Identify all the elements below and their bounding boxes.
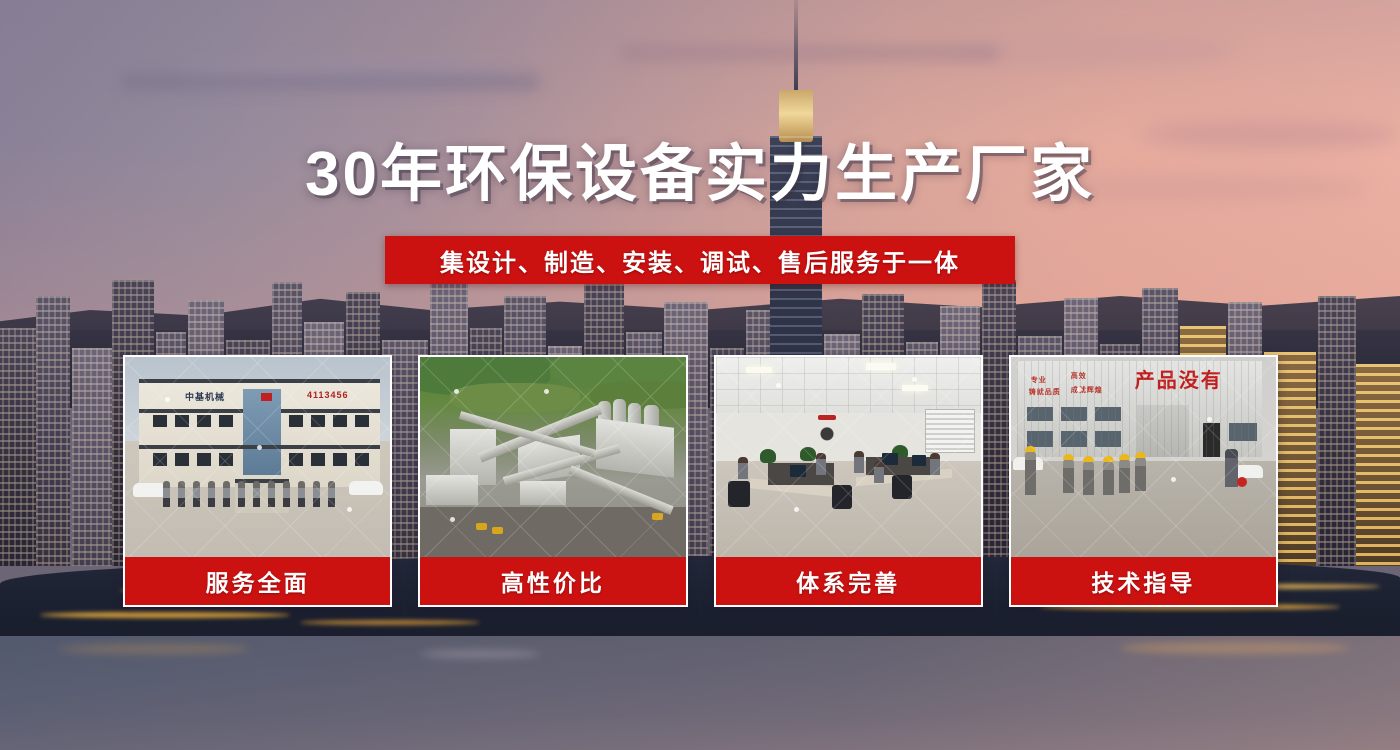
- office-chair: [832, 485, 852, 509]
- office-chair: [892, 475, 912, 499]
- monitor: [912, 455, 926, 466]
- office-worker: [816, 453, 826, 475]
- factory-side-door: [1203, 423, 1220, 457]
- office-building: 中基机械 4113456: [139, 379, 380, 487]
- river: [0, 636, 1400, 750]
- worker: [1083, 461, 1094, 495]
- tower-spire: [794, 0, 798, 93]
- flag: [261, 393, 272, 401]
- hard-hat: [1135, 452, 1146, 458]
- ceiling-light: [902, 385, 928, 391]
- worker: [1025, 451, 1036, 495]
- cloud: [620, 46, 1000, 60]
- office-worker: [930, 453, 940, 475]
- ceiling: [716, 357, 981, 413]
- feature-card-list: 中基机械 4113456: [123, 355, 1278, 607]
- phone-number-signage: 4113456: [307, 390, 349, 400]
- company-signage: 中基机械: [185, 390, 225, 403]
- supervisor: [1225, 449, 1238, 487]
- card-caption-bar: 服务全面: [125, 557, 390, 605]
- worker: [1063, 459, 1074, 493]
- hard-hat: [1103, 456, 1114, 462]
- street-light: [300, 620, 480, 625]
- card-caption-text: 高性价比: [501, 564, 605, 598]
- hero-banner: 30年环保设备实力生产厂家 集设计、制造、安装、调试、售后服务于一体: [0, 0, 1400, 750]
- card-photo-office-interior: [716, 357, 981, 557]
- ceiling-light: [746, 367, 772, 373]
- feature-card[interactable]: 体系完善: [714, 355, 983, 607]
- parked-car: [133, 483, 167, 497]
- plant-building: [426, 475, 478, 505]
- hard-hat: [1025, 446, 1036, 452]
- hard-hat: [1063, 454, 1074, 460]
- card-photo-office-building: 中基机械 4113456: [125, 357, 390, 557]
- card-caption-text: 体系完善: [796, 564, 900, 598]
- potted-plant: [800, 447, 816, 461]
- street-light: [40, 612, 290, 618]
- building-glass-facade: [243, 389, 281, 475]
- office-worker: [738, 457, 748, 479]
- illuminated-building: [1356, 364, 1400, 566]
- cloud: [120, 74, 540, 90]
- feature-card[interactable]: 高性价比: [418, 355, 687, 607]
- factory-building: 产品没有 专业 高效 铸就品质 成就辉煌: [1017, 361, 1262, 457]
- office-chair: [728, 481, 750, 507]
- card-photo-plant-aerial: [420, 357, 685, 557]
- office-worker: [854, 451, 864, 473]
- worker: [1135, 457, 1146, 491]
- excavator: [492, 527, 503, 534]
- tower-crown-light: [779, 90, 813, 142]
- excavator: [476, 523, 487, 530]
- red-helmet: [1237, 477, 1247, 487]
- card-caption-text: 服务全面: [206, 564, 310, 598]
- hard-hat: [1083, 456, 1094, 462]
- hero-subtitle-bar: 集设计、制造、安装、调试、售后服务于一体: [385, 236, 1015, 284]
- plant-building: [520, 481, 566, 505]
- excavator: [652, 513, 663, 520]
- hero-headline: 30年环保设备实力生产厂家: [0, 138, 1400, 212]
- feature-card[interactable]: 中基机械 4113456: [123, 355, 392, 607]
- ceiling-light: [866, 363, 896, 370]
- wall-decal: [812, 419, 842, 443]
- factory-signage: 产品没有: [1135, 364, 1223, 393]
- factory-roller-door: [1137, 405, 1189, 457]
- window-blinds: [925, 409, 975, 453]
- office-worker: [874, 461, 884, 483]
- worker: [1103, 461, 1114, 495]
- card-photo-factory-yard: 产品没有 专业 高效 铸就品质 成就辉煌: [1011, 357, 1276, 557]
- parked-car: [349, 481, 383, 495]
- feature-card[interactable]: 产品没有 专业 高效 铸就品质 成就辉煌: [1009, 355, 1278, 607]
- monitor: [790, 465, 806, 477]
- card-caption-bar: 高性价比: [420, 557, 685, 605]
- card-caption-text: 技术指导: [1091, 564, 1195, 598]
- card-caption-bar: 体系完善: [716, 557, 981, 605]
- hero-subtitle-text: 集设计、制造、安装、调试、售后服务于一体: [440, 243, 960, 278]
- card-caption-bar: 技术指导: [1011, 557, 1276, 605]
- potted-plant: [760, 449, 776, 463]
- monitor: [882, 453, 898, 465]
- hard-hat: [1119, 454, 1130, 460]
- worker: [1119, 459, 1130, 493]
